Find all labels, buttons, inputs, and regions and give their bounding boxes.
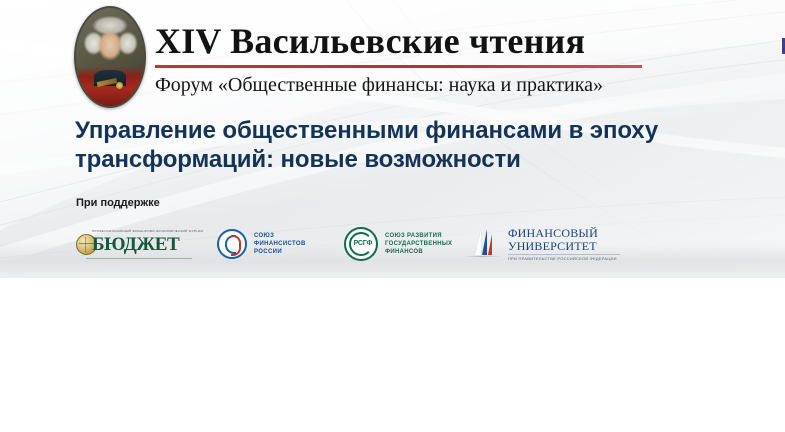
event-title: XIV Васильевские чтения (155, 20, 655, 62)
masthead: XIV Васильевские чтения Форум «Обществен… (0, 0, 785, 110)
sail-white (475, 231, 481, 255)
srgf-name-block: СОЮЗ РАЗВИТИЯ ГОСУДАРСТВЕННЫХ ФИНАНСОВ (385, 232, 452, 256)
srgf-line-3: ФИНАНСОВ (385, 248, 452, 256)
event-subtitle: Форум «Общественные финансы: наука и пра… (155, 72, 655, 98)
event-banner: XIV Васильевские чтения Форум «Обществен… (0, 0, 785, 278)
finuniv-line-2: УНИВЕРСИТЕТ (508, 240, 620, 253)
finuniv-divider-rule (508, 254, 620, 255)
budget-underline-rule (86, 258, 192, 259)
sfr-line-2: ФИНАНСИСТОВ (254, 240, 306, 248)
srgf-line-1: СОЮЗ РАЗВИТИЯ (385, 232, 452, 240)
finuniv-name-block: ФИНАНСОВЫЙ УНИВЕРСИТЕТ ПРИ ПРАВИТЕЛЬСТВЕ… (508, 227, 620, 262)
partner-logo-soyuz-finansistov-rossii[interactable]: СОЮЗ ФИНАНСИСТОВ РОССИИ (217, 222, 327, 266)
budget-logo-row: БЮДЖЕТ (76, 234, 179, 255)
srgf-line-2: ГОСУДАРСТВЕННЫХ (385, 240, 452, 248)
partner-logo-finansovyy-universitet[interactable]: ФИНАНСОВЫЙ УНИВЕРСИТЕТ ПРИ ПРАВИТЕЛЬСТВЕ… (474, 222, 634, 266)
finuniv-sail-icon (474, 228, 500, 260)
sail-red (488, 234, 492, 255)
event-wordmark: XIV Васильевские чтения Форум «Обществен… (155, 20, 655, 98)
page-content-area (0, 278, 785, 432)
sfr-line-1: СОЮЗ (254, 232, 306, 240)
sail-blue (482, 229, 487, 255)
sfr-name-block: СОЮЗ ФИНАНСИСТОВ РОССИИ (254, 232, 306, 256)
sfr-line-3: РОССИИ (254, 248, 306, 256)
sfr-monogram-icon (217, 229, 247, 259)
portrait-medallion-icon (74, 6, 146, 108)
srgf-ring-icon: РСГФ (344, 227, 378, 261)
portrait-medal-icon (116, 82, 123, 89)
title-divider-rule (155, 65, 642, 68)
partner-logo-row: ПРОФЕССИОНАЛЬНЫЙ ФИНАНСОВО-ЭКОНОМИЧЕСКИЙ… (76, 222, 636, 268)
support-label: При поддержке (76, 196, 160, 210)
budget-wordmark: БЮДЖЕТ (92, 235, 179, 255)
partner-logo-soyuz-razvitiya-gosfinansov[interactable]: РСГФ СОЮЗ РАЗВИТИЯ ГОСУДАРСТВЕННЫХ ФИНАН… (344, 222, 474, 266)
finuniv-line-1: ФИНАНСОВЫЙ (508, 227, 620, 240)
srgf-abbreviation: РСГФ (354, 240, 373, 248)
finuniv-line-3: ПРИ ПРАВИТЕЛЬСТВЕ РОССИЙСКОЙ ФЕДЕРАЦИИ (508, 256, 620, 262)
banner-headline: Управление общественными финансами в эпо… (75, 116, 765, 174)
partner-logo-budget[interactable]: ПРОФЕССИОНАЛЬНЫЙ ФИНАНСОВО-ЭКОНОМИЧЕСКИЙ… (76, 222, 194, 266)
portrait-artwork (76, 8, 144, 106)
sail-waterline (464, 256, 502, 257)
budget-kicker-text: ПРОФЕССИОНАЛЬНЫЙ ФИНАНСОВО-ЭКОНОМИЧЕСКИЙ… (92, 229, 203, 233)
